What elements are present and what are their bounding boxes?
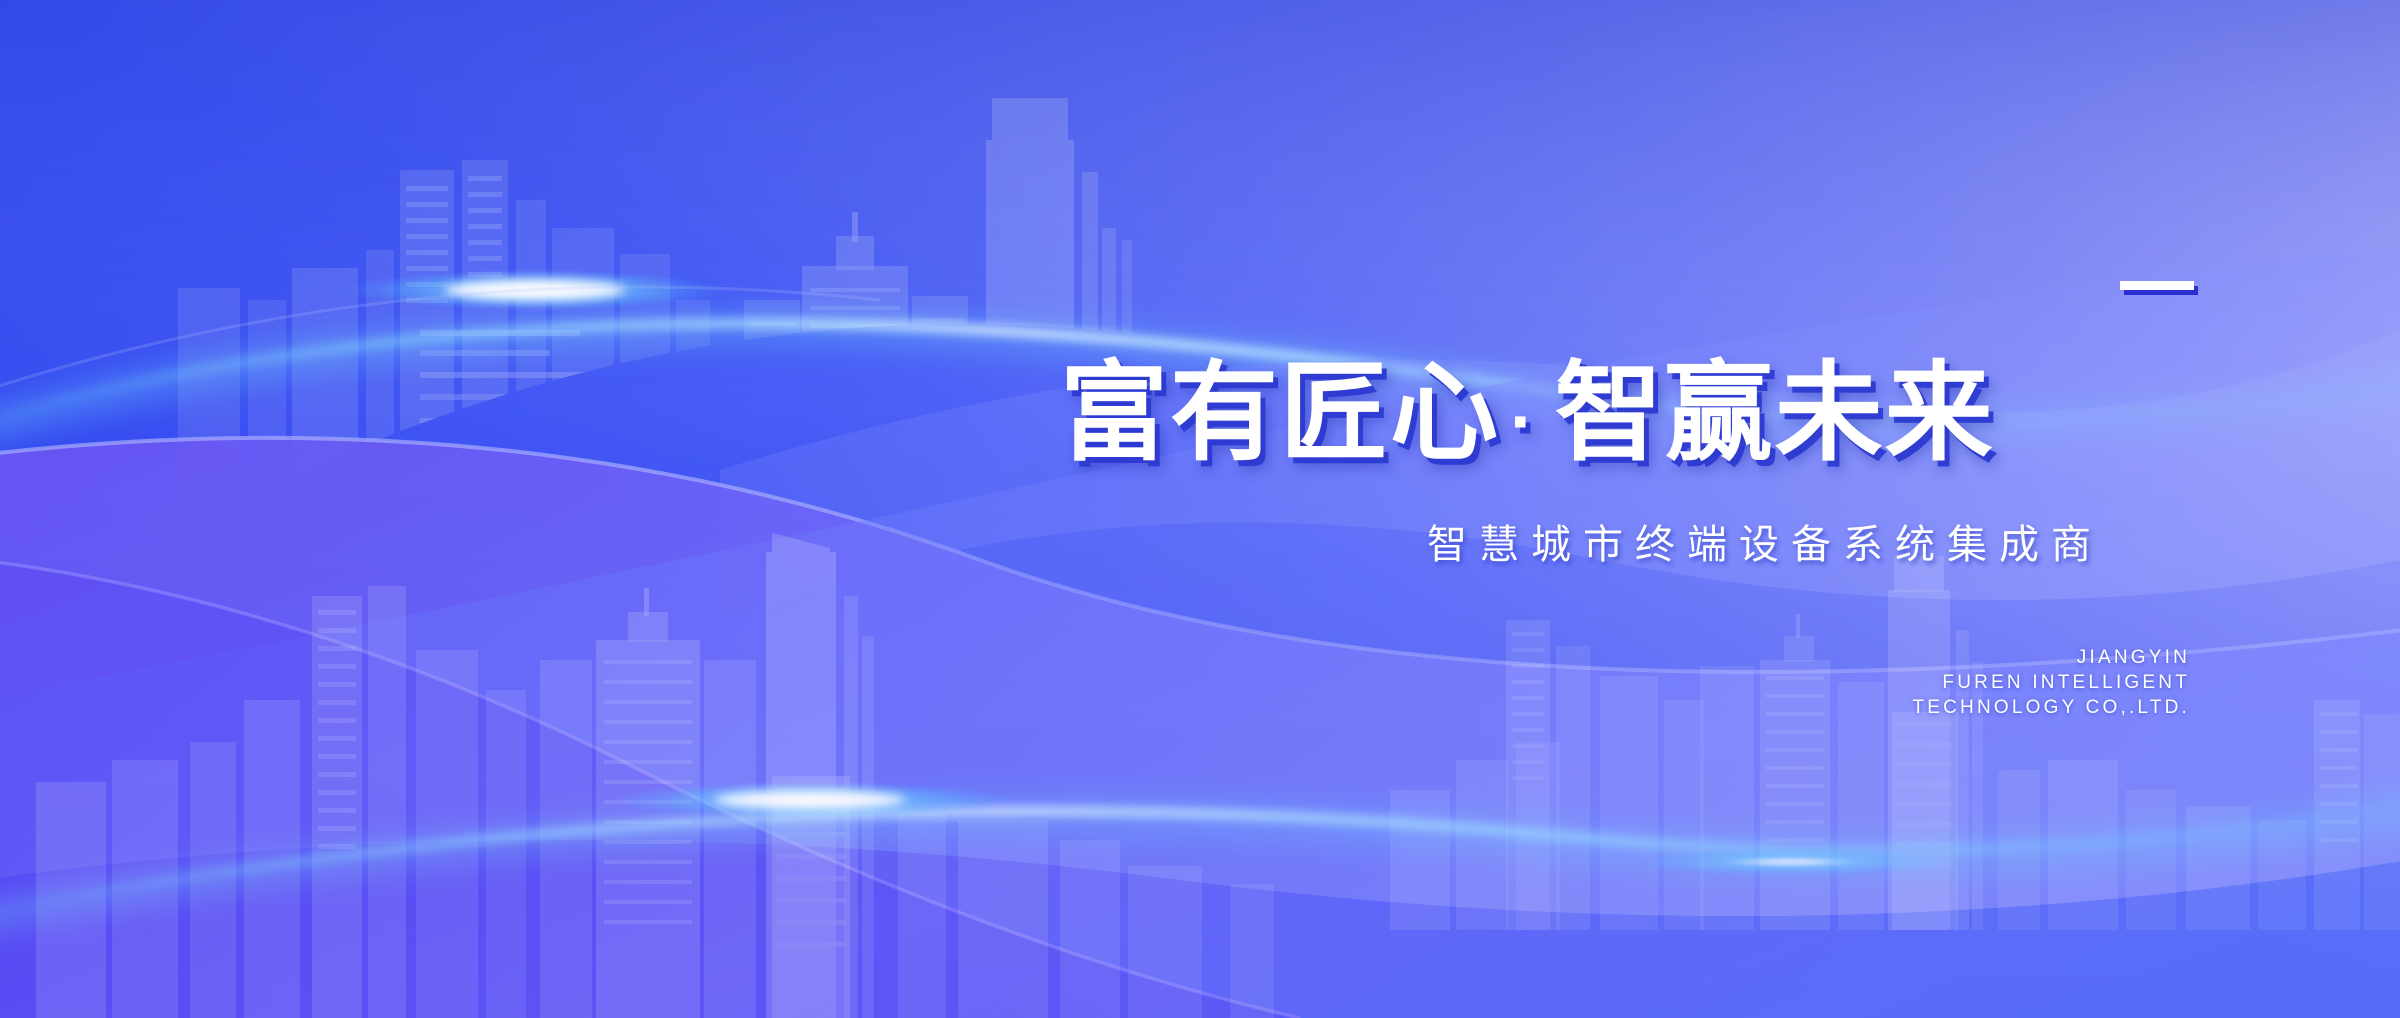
banner-canvas: 富有匠心·智赢未来 智慧城市终端设备系统集成商 JIANGYIN FUREN I… xyxy=(0,0,2400,1018)
background-artwork xyxy=(0,0,2400,1018)
company-name-english: JIANGYIN FUREN INTELLIGENT TECHNOLOGY CO… xyxy=(1700,645,2190,720)
headline-title: 富有匠心·智赢未来 xyxy=(1060,358,2200,468)
company-line-1: JIANGYIN xyxy=(1700,645,2190,670)
subtitle-tagline: 智慧城市终端设备系统集成商 xyxy=(1427,512,2207,570)
headline-separator-dot: · xyxy=(1500,380,1555,463)
company-line-3: TECHNOLOGY CO,.LTD. xyxy=(1700,695,2190,720)
headline-part-1: 富有匠心 xyxy=(1060,352,1500,473)
headline-part-2: 智赢未来 xyxy=(1555,352,1995,473)
decorative-dash-icon xyxy=(2120,281,2194,290)
company-line-2: FUREN INTELLIGENT xyxy=(1700,670,2190,695)
